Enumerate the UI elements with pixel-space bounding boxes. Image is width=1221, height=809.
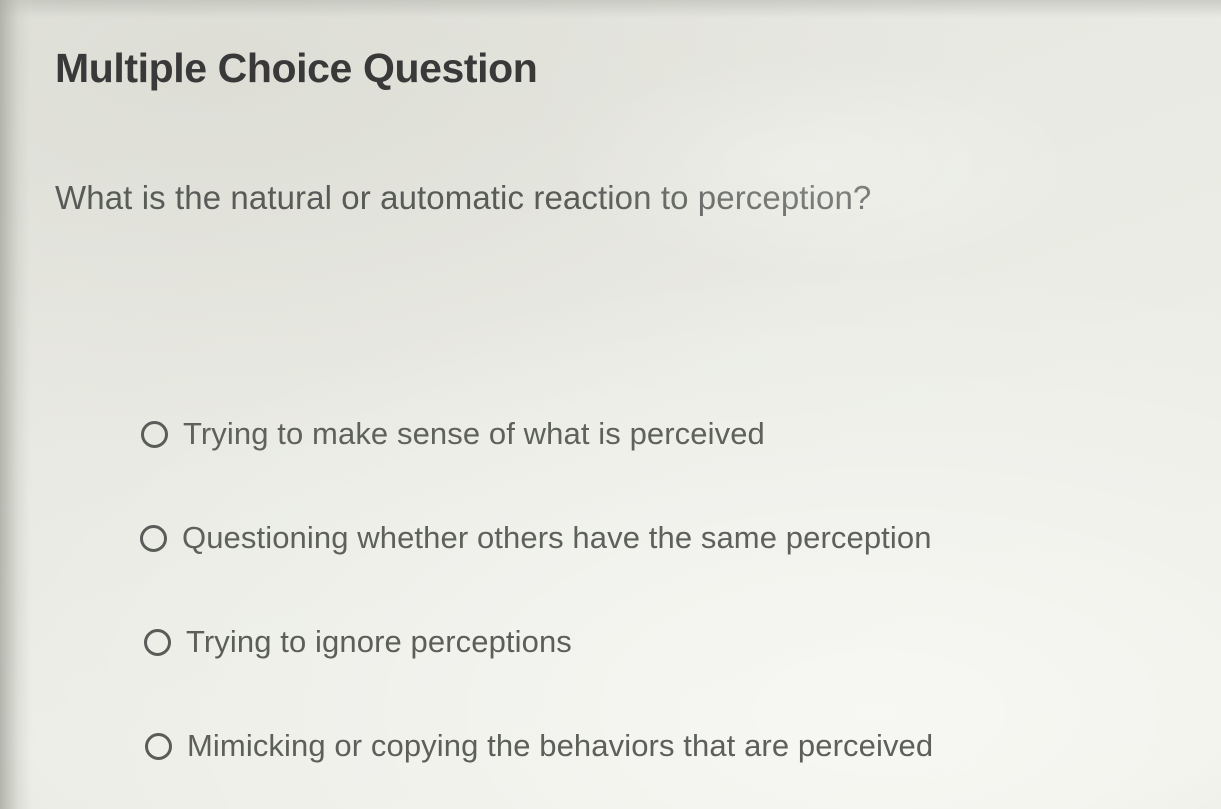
answer-option-label: Mimicking or copying the behaviors that … — [187, 726, 933, 766]
answer-options-list: Trying to make sense of what is perceive… — [0, 414, 1221, 809]
answer-option-label: Questioning whether others have the same… — [182, 518, 932, 558]
answer-option-c[interactable]: Trying to ignore perceptions — [0, 622, 1221, 726]
question-content: Multiple Choice Question What is the nat… — [0, 0, 1221, 809]
answer-option-d[interactable]: Mimicking or copying the behaviors that … — [0, 726, 1221, 809]
radio-unchecked-icon[interactable] — [141, 421, 168, 448]
answer-option-label: Trying to ignore perceptions — [186, 622, 572, 662]
answer-option-label: Trying to make sense of what is perceive… — [183, 414, 765, 454]
question-page: Multiple Choice Question What is the nat… — [0, 0, 1221, 809]
radio-unchecked-icon[interactable] — [145, 733, 172, 760]
question-prompt: What is the natural or automatic reactio… — [55, 179, 871, 217]
page-title: Multiple Choice Question — [55, 45, 537, 92]
answer-option-a[interactable]: Trying to make sense of what is perceive… — [0, 414, 1221, 518]
radio-unchecked-icon[interactable] — [140, 525, 167, 552]
answer-option-b[interactable]: Questioning whether others have the same… — [0, 518, 1221, 622]
radio-unchecked-icon[interactable] — [144, 629, 171, 656]
